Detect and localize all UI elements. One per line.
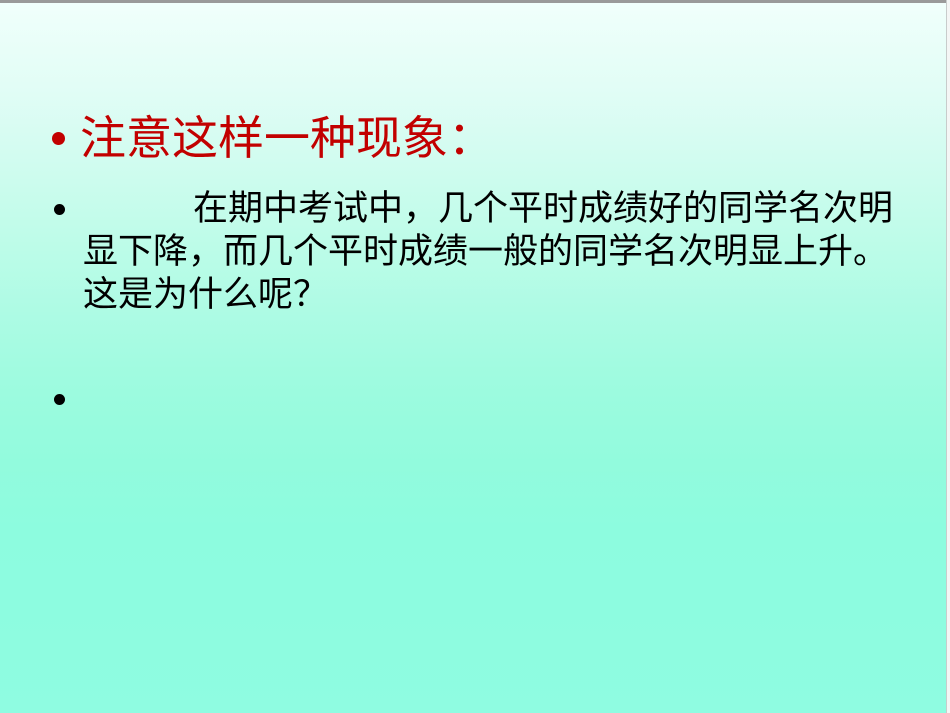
body-bullet-item: 在期中考试中，几个平时成绩好的同学名次明显下降，而几个平时成绩一般的同学名次明显… bbox=[54, 188, 922, 317]
bullet-point-icon bbox=[54, 204, 65, 215]
slide-top-divider bbox=[0, 0, 950, 3]
body-paragraph-text: 在期中考试中，几个平时成绩好的同学名次明显下降，而几个平时成绩一般的同学名次明显… bbox=[83, 189, 893, 315]
bullet-point-icon bbox=[52, 132, 65, 145]
body-paragraph: 在期中考试中，几个平时成绩好的同学名次明显下降，而几个平时成绩一般的同学名次明显… bbox=[83, 188, 905, 317]
bullet-point-icon bbox=[54, 394, 65, 405]
empty-bullet-text bbox=[83, 378, 87, 421]
title-bullet-item: 注意这样一种现象： bbox=[52, 110, 494, 166]
slide-right-divider bbox=[946, 0, 950, 713]
empty-bullet-item bbox=[54, 378, 87, 421]
presentation-slide: 注意这样一种现象： 在期中考试中，几个平时成绩好的同学名次明显下降，而几个平时成… bbox=[0, 0, 950, 713]
page-title: 注意这样一种现象： bbox=[80, 110, 494, 166]
